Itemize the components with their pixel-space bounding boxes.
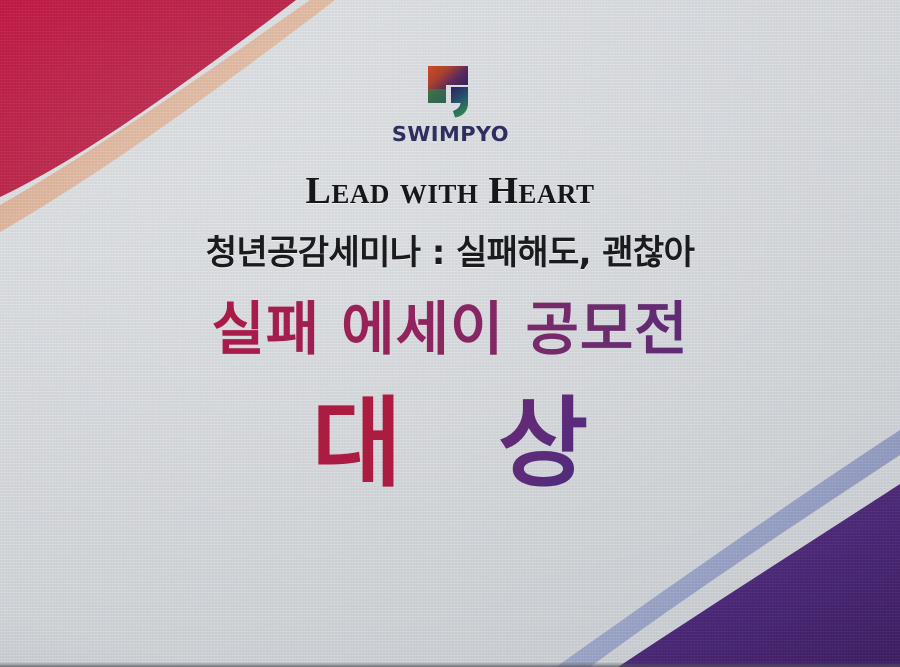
award-char-second: 상	[498, 388, 588, 501]
seminar-subtitle: 청년공감세미나 : 실패해도, 괜찮아	[0, 233, 900, 274]
award-banner-photo: SWIMPYO Lead with Heart 청년공감세미나 : 실패해도, …	[0, 0, 900, 667]
swimpyo-wordmark: SWIMPYO	[391, 124, 508, 145]
award-char-first: 대	[312, 388, 402, 501]
banner-content: SWIMPYO Lead with Heart 청년공감세미나 : 실패해도, …	[0, 0, 900, 667]
swimpyo-logo-mark-icon	[424, 63, 476, 119]
award-grade: 대상	[0, 388, 900, 501]
tagline-lead-with-heart: Lead with Heart	[0, 172, 900, 210]
contest-main-title: 실패 에세이 공모전	[0, 296, 900, 363]
brand-logo: SWIMPYO	[0, 63, 900, 145]
